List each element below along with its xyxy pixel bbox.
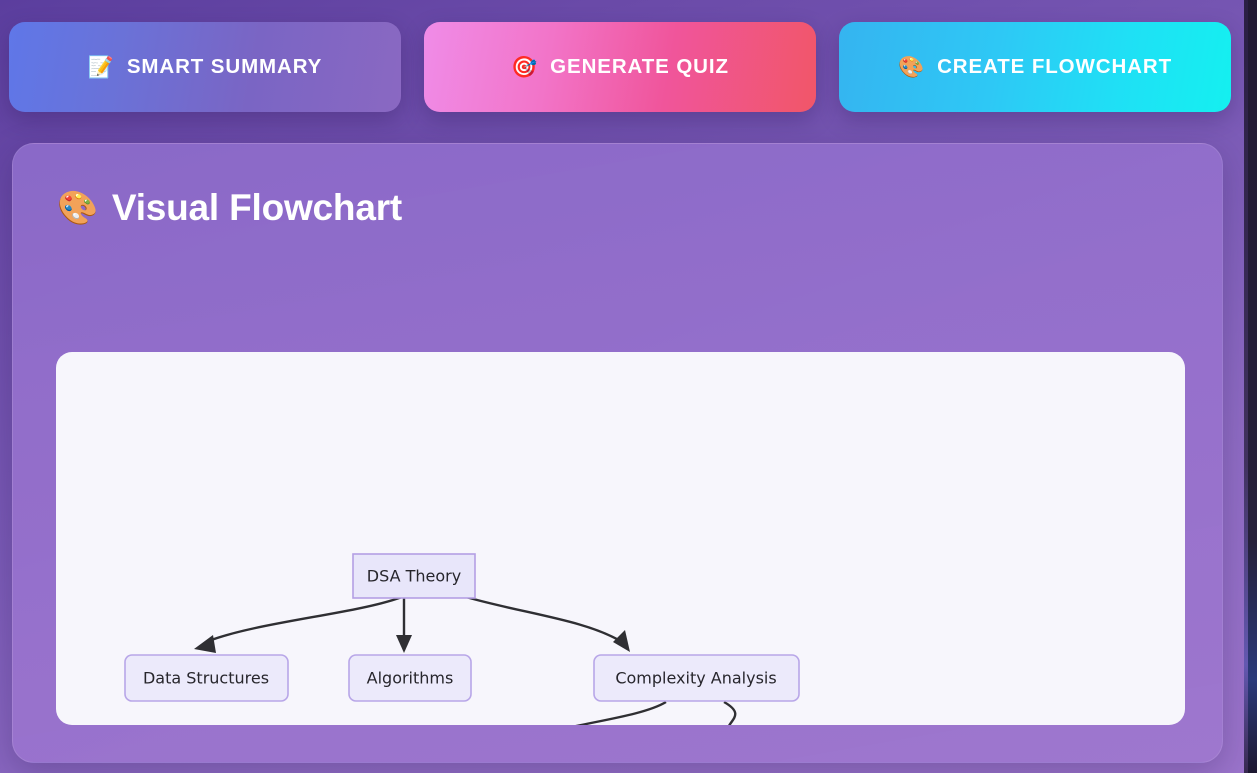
window-edge-strip: [1248, 0, 1257, 773]
memo-icon: 📝: [88, 57, 115, 78]
page-title: 🎨 Visual Flowchart: [57, 189, 402, 226]
edge-dsa-theory-to-algorithms: [396, 597, 412, 653]
action-button-row: 📝 SMART SUMMARY 🎯 GENERATE QUIZ 🎨 CREATE…: [9, 22, 1231, 112]
flowchart-node-dsa-theory-label: DSA Theory: [367, 567, 461, 586]
generate-quiz-button[interactable]: 🎯 GENERATE QUIZ: [424, 22, 816, 112]
create-flowchart-button[interactable]: 🎨 CREATE FLOWCHART: [839, 22, 1231, 112]
flowchart-node-dsa-theory[interactable]: DSA Theory: [353, 554, 475, 598]
edge-dsa-theory-to-data-structures: [194, 597, 402, 653]
generate-quiz-button-label: GENERATE QUIZ: [550, 55, 729, 79]
target-icon: 🎯: [511, 57, 538, 78]
edge-complexity-analysis-to-time-complexity: [500, 702, 666, 725]
flowchart-canvas[interactable]: DSA Theory Data Structures Algorithms Co…: [56, 352, 1185, 725]
flowchart-svg: DSA Theory Data Structures Algorithms Co…: [56, 352, 1185, 725]
flowchart-node-data-structures[interactable]: Data Structures: [125, 655, 288, 701]
page-title-label: Visual Flowchart: [112, 189, 402, 226]
smart-summary-button[interactable]: 📝 SMART SUMMARY: [9, 22, 401, 112]
flowchart-node-algorithms[interactable]: Algorithms: [349, 655, 471, 701]
flowchart-node-complexity-analysis[interactable]: Complexity Analysis: [594, 655, 799, 701]
create-flowchart-button-label: CREATE FLOWCHART: [937, 55, 1172, 79]
edge-complexity-analysis-to-space-complexity: [724, 702, 749, 725]
flowchart-node-complexity-analysis-label: Complexity Analysis: [615, 669, 776, 688]
smart-summary-button-label: SMART SUMMARY: [127, 55, 322, 79]
palette-icon: 🎨: [898, 57, 925, 78]
edge-dsa-theory-to-complexity-analysis: [466, 597, 630, 652]
flowchart-node-data-structures-label: Data Structures: [143, 669, 269, 688]
visual-flowchart-card: 🎨 Visual Flowchart A beautiful visual re…: [12, 143, 1223, 763]
flowchart-nodes: DSA Theory Data Structures Algorithms Co…: [125, 554, 844, 725]
palette-icon: 🎨: [57, 191, 98, 224]
flowchart-node-algorithms-label: Algorithms: [367, 669, 454, 688]
